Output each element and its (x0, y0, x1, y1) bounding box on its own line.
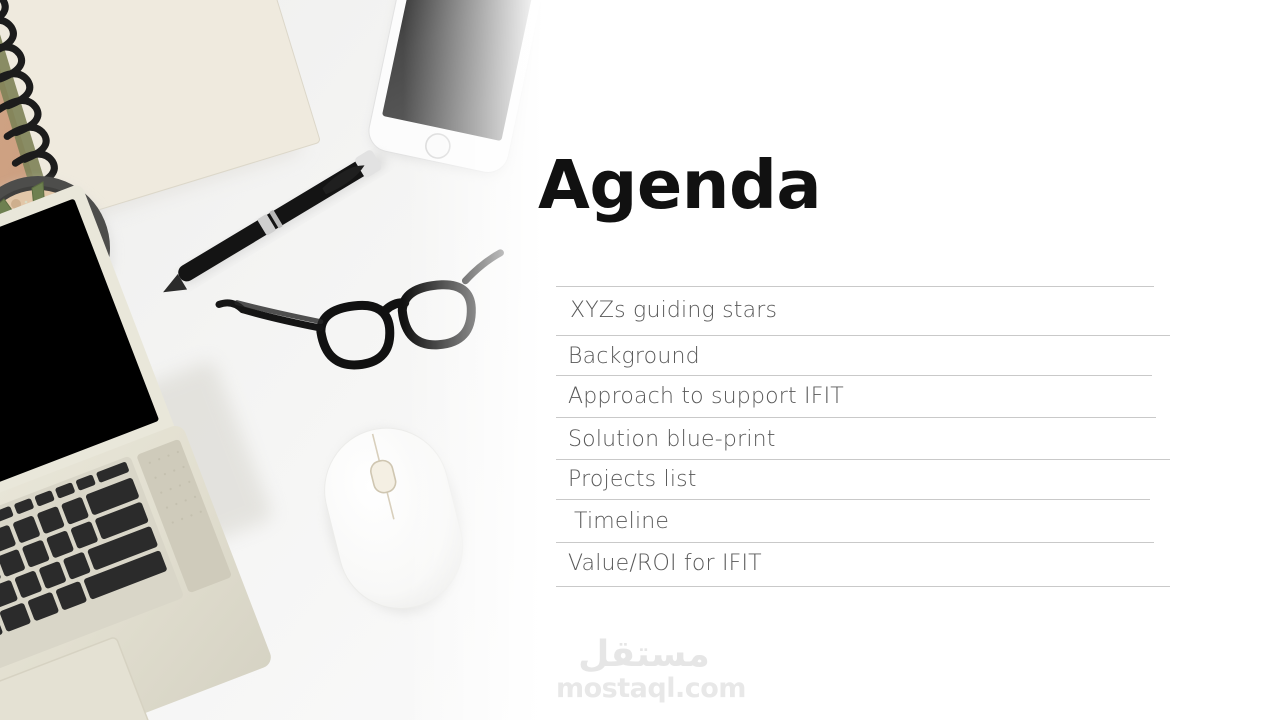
agenda-item-label: Approach to support IFIT (556, 376, 1152, 417)
watermark-arabic-text: مستقل (556, 636, 732, 674)
watermark-domain-text: mostaql.com (556, 674, 732, 704)
agenda-item-label: Projects list (556, 460, 1170, 499)
list-item[interactable]: Background (556, 335, 1170, 375)
list-item[interactable]: Approach to support IFIT (556, 375, 1152, 417)
agenda-item-label: XYZs guiding stars (556, 287, 1154, 335)
list-item[interactable]: Timeline (556, 499, 1150, 542)
list-item[interactable]: Solution blue-print (556, 417, 1156, 459)
mostaql-watermark: مستقل mostaql.com (556, 636, 732, 703)
page-title: Agenda (538, 152, 821, 219)
agenda-item-label: Background (556, 336, 1170, 375)
desk-flatlay-photo (0, 0, 560, 720)
slide-content: Agenda XYZs guiding stars Background App… (536, 0, 1280, 720)
presentation-slide: Agenda XYZs guiding stars Background App… (0, 0, 1280, 720)
agenda-list: XYZs guiding stars Background Approach t… (556, 286, 1170, 587)
agenda-item-label: Solution blue-print (556, 418, 1156, 459)
agenda-list-bottom-rule (556, 586, 1170, 587)
list-item[interactable]: Value/ROI for IFIT (556, 542, 1154, 586)
list-item[interactable]: Projects list (556, 459, 1170, 499)
agenda-item-label: Timeline (556, 500, 1150, 542)
list-item[interactable]: XYZs guiding stars (556, 286, 1154, 335)
agenda-item-label: Value/ROI for IFIT (556, 543, 1154, 586)
